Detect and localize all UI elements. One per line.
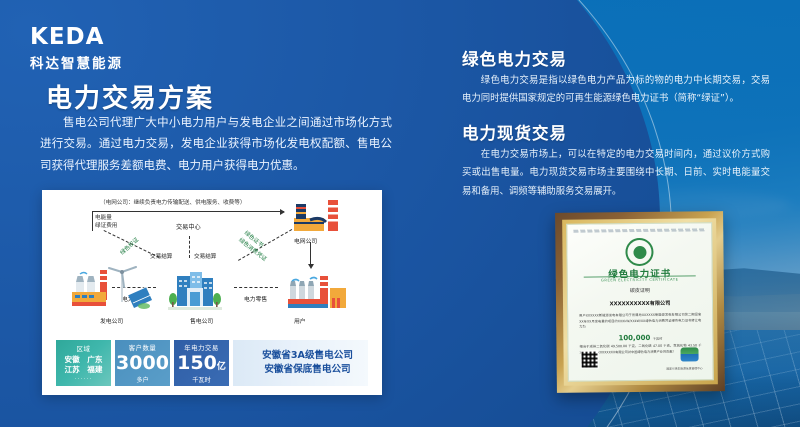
stat-region-line2: 江苏 福建 xyxy=(65,365,103,375)
certificate-footer: 国家可再生能源信息管理中心 xyxy=(666,366,702,370)
stat-region: 区域 安徽 广东 江苏 福建 ······ xyxy=(56,340,111,386)
diagram-node-user: 用户 xyxy=(294,316,306,325)
section-body-spot-trading: 在电力交易市场上，可以在特定的电力交易时间内，通过议价方式购买或出售电量。电力现… xyxy=(462,146,770,201)
certificate-org: XXXXXXXXXX有限公司 xyxy=(568,299,712,308)
certificate-seal-core xyxy=(633,245,646,258)
diagram-settlement-right: 交易结算 xyxy=(194,252,216,260)
certificate-paper: 绿色电力证书 GREEN ELECTRICITY CERTIFICATE 碳皮证… xyxy=(566,222,714,382)
stat-annual-caption: 年电力交易 xyxy=(184,343,218,352)
stat-customers-unit: 多户 xyxy=(136,375,148,384)
stat-region-line1: 安徽 广东 xyxy=(65,355,103,365)
generator-illustration xyxy=(70,262,156,312)
stat-annual-trading: 年电力交易 150亿 千瓦时 xyxy=(174,340,229,386)
page-title: 电力交易方案 xyxy=(46,78,214,115)
grid-company-illustration xyxy=(288,196,348,236)
brand-wordmark: KEDA xyxy=(30,26,160,49)
stat-region-caption: 区域 xyxy=(77,344,91,353)
certificate-header-note xyxy=(573,228,705,232)
stat-region-dots: ······ xyxy=(75,376,93,382)
stat-annual-suffix: 亿 xyxy=(217,362,226,372)
diagram-node-retailer: 售电公司 xyxy=(190,316,213,325)
diagram-down-arrow xyxy=(310,242,311,264)
qr-code-icon xyxy=(581,350,599,368)
certificate-seal-icon xyxy=(625,238,653,266)
certificate-title-en: GREEN ELECTRICITY CERTIFICATE xyxy=(568,277,712,283)
diagram-settlement-connector xyxy=(189,236,190,258)
section-heading-spot-trading: 电力现货交易 xyxy=(462,120,567,144)
diagram-top-arrow xyxy=(92,211,284,212)
certificate-photo: 绿色电力证书 GREEN ELECTRICITY CERTIFICATE 碳皮证… xyxy=(555,211,725,393)
section-body-green-power: 绿色电力交易是指以绿色电力产品为标的物的电力中长期交易，交易电力同时提供国家规定… xyxy=(462,72,770,109)
stats-banner-line2: 安徽省保底售电公司 xyxy=(262,363,353,377)
stat-customers-value: 3000 xyxy=(116,354,169,373)
retailer-illustration xyxy=(168,268,222,312)
brand-chinese-name: 科达智慧能源 xyxy=(30,52,160,72)
slide-root: KEDA 科达智慧能源 电力交易方案 售电公司代理广大中小电力用户与发电企业之间… xyxy=(0,0,800,427)
diagram-grid-note: （电网公司：继续负责电力传输配送、供电服务、收费等） xyxy=(100,198,245,206)
diagram-retail-label: 电力零售 xyxy=(244,294,267,303)
brand-logo: KEDA 科达智慧能源 xyxy=(30,26,160,72)
stats-banner: KEDA 安徽省3A级售电公司 安徽省保底售电公司 xyxy=(233,340,368,386)
section-heading-green-power: 绿色电力交易 xyxy=(462,46,567,70)
stat-annual-number: 150 xyxy=(177,352,217,374)
diagram-node-grid: 电网公司 xyxy=(294,236,317,245)
diagram-retail-line xyxy=(234,287,278,288)
stat-customers: 客户数量 3000 多户 xyxy=(115,340,170,386)
stats-banner-line1: 安徽省3A级售电公司 xyxy=(262,349,353,363)
diagram-left-connector xyxy=(92,211,93,231)
diagram-fee-label: 电能量绿证费用 xyxy=(95,214,117,231)
certificate-authority-logo xyxy=(680,347,698,361)
diagram-trading-center-label: 交易中心 xyxy=(176,222,201,231)
certificate-amount-value: 100,000 xyxy=(618,334,650,342)
stats-watermark: KEDA xyxy=(233,341,235,386)
certificate-body: 用户XXXXXX新能源发电有限公司于所属地XXXXXX新能源发电有限公司第二期温… xyxy=(579,312,701,330)
left-paragraph: 售电公司代理广大中小电力用户与发电企业之间通过市场化方式进行交易。通过电力交易，… xyxy=(40,112,392,176)
user-factory-illustration xyxy=(286,268,350,312)
stat-annual-value: 150亿 xyxy=(177,354,226,373)
certificate-amount: 100,000 千瓦时 xyxy=(568,333,712,343)
content-card: （电网公司：继续负责电力传输配送、供电服务、收费等） 电能量绿证费用 交易中心 … xyxy=(42,190,382,395)
stat-customers-caption: 客户数量 xyxy=(129,343,157,352)
certificate-subtitle: 碳皮证明 xyxy=(568,286,712,295)
diagram-node-generator: 发电公司 xyxy=(100,316,123,325)
stat-annual-unit: 千瓦时 xyxy=(192,375,211,384)
stats-banner-text: 安徽省3A级售电公司 安徽省保底售电公司 xyxy=(248,349,353,378)
certificate-amount-unit: 千瓦时 xyxy=(653,337,663,341)
market-flow-diagram: （电网公司：继续负责电力传输配送、供电服务、收费等） 电能量绿证费用 交易中心 … xyxy=(42,190,382,335)
stats-strip: 区域 安徽 广东 江苏 福建 ······ 客户数量 3000 多户 年电力交易… xyxy=(56,340,368,386)
